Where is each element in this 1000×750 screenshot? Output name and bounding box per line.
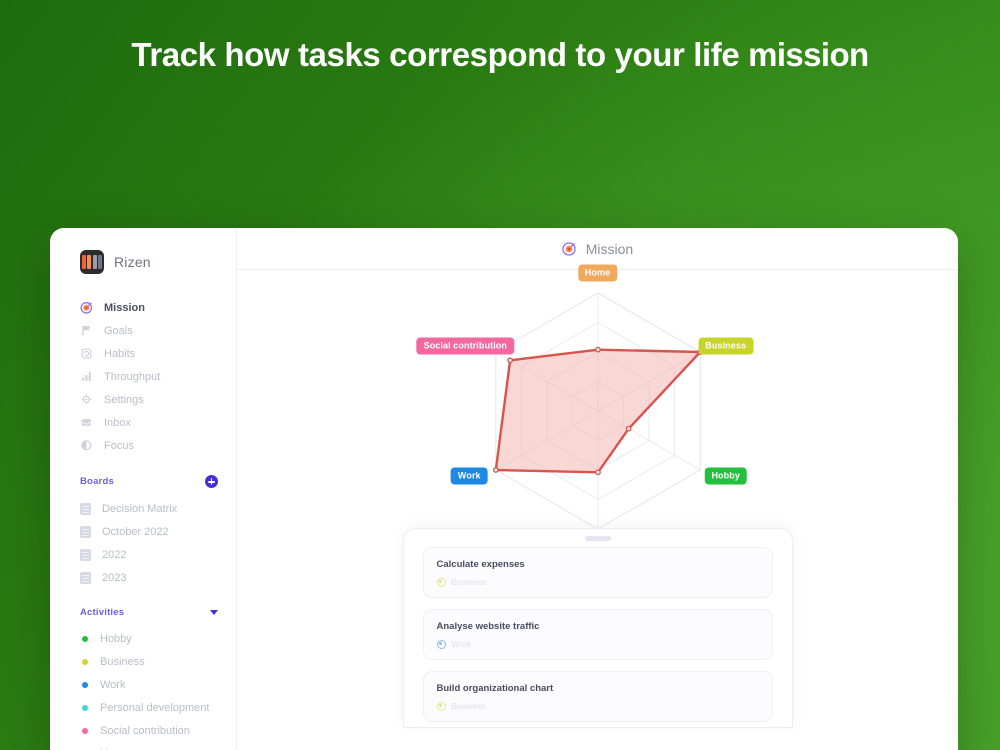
chevron-down-icon[interactable] <box>210 610 218 615</box>
sidebar-item-label: Throughput <box>104 371 160 383</box>
main-content: Mission HomeBusinessHobbyPersonal develo… <box>237 228 958 750</box>
activity-tag-icon <box>437 702 446 711</box>
task-tag-label: Work <box>452 639 472 649</box>
inbox-icon <box>80 416 93 429</box>
flag-icon <box>80 324 93 337</box>
half-circle-icon <box>80 439 93 452</box>
page-headline: Track how tasks correspond to your life … <box>0 36 1000 74</box>
activity-label: Business <box>100 656 145 668</box>
activity-color-dot <box>82 705 88 711</box>
activity-color-dot <box>82 659 88 665</box>
activity-tag-icon <box>437 640 446 649</box>
activity-item[interactable]: Personal development <box>50 696 236 719</box>
board-item[interactable]: 2023 <box>50 566 236 589</box>
task-title: Analyse website traffic <box>437 621 759 632</box>
sidebar-item-settings[interactable]: Settings <box>50 388 236 411</box>
sidebar: Rizen MissionGoalsHabitsThroughputSettin… <box>50 228 237 750</box>
board-item[interactable]: Decision Matrix <box>50 497 236 520</box>
headline-emphasis: mission <box>748 36 869 73</box>
board-icon <box>80 526 91 538</box>
task-list: Calculate expensesBusinessAnalyse websit… <box>423 547 773 722</box>
headline-lead: Track how tasks correspond to your life <box>131 36 748 73</box>
task-tag: Business <box>437 701 759 711</box>
board-item-label: 2023 <box>102 572 126 584</box>
sidebar-item-label: Habits <box>104 348 135 360</box>
boards-list: Decision MatrixOctober 202220222023 <box>50 497 236 589</box>
activity-item[interactable]: Hobby <box>50 627 236 650</box>
activity-item[interactable]: Social contribution <box>50 719 236 742</box>
page-title: Mission <box>586 241 633 257</box>
activities-list: HobbyBusinessWorkPersonal developmentSoc… <box>50 627 236 750</box>
radar-chart-area: HomeBusinessHobbyPersonal developmentWor… <box>237 270 958 560</box>
sidebar-item-label: Settings <box>104 394 144 406</box>
task-card[interactable]: Analyse website trafficWork <box>423 609 773 660</box>
sidebar-item-mission[interactable]: Mission <box>50 296 236 319</box>
board-icon <box>80 503 91 515</box>
gear-icon <box>80 393 93 406</box>
task-card[interactable]: Calculate expensesBusiness <box>423 547 773 598</box>
radar-label-social-contribution[interactable]: Social contribution <box>417 338 514 355</box>
activity-color-dot <box>82 682 88 688</box>
activity-label: Personal development <box>100 702 209 714</box>
sidebar-item-label: Mission <box>104 302 145 314</box>
sidebar-nav: MissionGoalsHabitsThroughputSettingsInbo… <box>50 296 236 457</box>
drag-handle[interactable] <box>585 536 611 541</box>
repeat-icon <box>80 347 93 360</box>
task-card[interactable]: Build organizational chartBusiness <box>423 671 773 722</box>
task-tag-label: Business <box>452 701 487 711</box>
board-icon <box>80 572 91 584</box>
radar-label-hobby[interactable]: Hobby <box>704 468 747 485</box>
task-title: Calculate expenses <box>437 559 759 570</box>
board-icon <box>80 549 91 561</box>
board-item-label: Decision Matrix <box>102 503 177 515</box>
sidebar-item-label: Goals <box>104 325 133 337</box>
radar-label-work[interactable]: Work <box>451 468 488 485</box>
task-panel: Calculate expensesBusinessAnalyse websit… <box>403 528 793 728</box>
activity-label: Social contribution <box>100 725 190 737</box>
activity-item[interactable]: Business <box>50 650 236 673</box>
activities-title: Activities <box>80 607 124 618</box>
task-tag-label: Business <box>452 577 487 587</box>
radar-chart[interactable]: HomeBusinessHobbyPersonal developmentWor… <box>388 278 808 558</box>
bar-chart-icon <box>80 370 93 383</box>
activity-item[interactable]: Home <box>50 742 236 750</box>
radar-label-home[interactable]: Home <box>578 265 617 282</box>
activity-item[interactable]: Work <box>50 673 236 696</box>
activities-section-header: Activities <box>50 607 236 618</box>
brand[interactable]: Rizen <box>50 250 236 274</box>
task-tag: Work <box>437 639 759 649</box>
plus-circle-icon[interactable] <box>205 475 218 488</box>
board-item[interactable]: October 2022 <box>50 520 236 543</box>
radar-label-business[interactable]: Business <box>698 338 753 355</box>
target-icon <box>80 301 93 314</box>
board-item-label: 2022 <box>102 549 126 561</box>
rizen-logo-icon <box>80 250 104 274</box>
target-icon <box>562 241 577 256</box>
sidebar-item-focus[interactable]: Focus <box>50 434 236 457</box>
sidebar-item-label: Inbox <box>104 417 131 429</box>
board-item-label: October 2022 <box>102 526 169 538</box>
sidebar-item-inbox[interactable]: Inbox <box>50 411 236 434</box>
activity-label: Hobby <box>100 633 132 645</box>
activity-color-dot <box>82 636 88 642</box>
app-window: Rizen MissionGoalsHabitsThroughputSettin… <box>50 228 958 750</box>
boards-title: Boards <box>80 476 114 487</box>
activity-color-dot <box>82 728 88 734</box>
task-tag: Business <box>437 577 759 587</box>
sidebar-item-habits[interactable]: Habits <box>50 342 236 365</box>
sidebar-item-throughput[interactable]: Throughput <box>50 365 236 388</box>
task-title: Build organizational chart <box>437 683 759 694</box>
promo-screenshot: Track how tasks correspond to your life … <box>0 0 1000 750</box>
board-item[interactable]: 2022 <box>50 543 236 566</box>
sidebar-item-goals[interactable]: Goals <box>50 319 236 342</box>
boards-section-header: Boards <box>50 475 236 488</box>
activity-label: Work <box>100 679 125 691</box>
brand-name: Rizen <box>114 254 151 270</box>
activity-tag-icon <box>437 578 446 587</box>
sidebar-item-label: Focus <box>104 440 134 452</box>
radar-svg <box>388 278 808 558</box>
